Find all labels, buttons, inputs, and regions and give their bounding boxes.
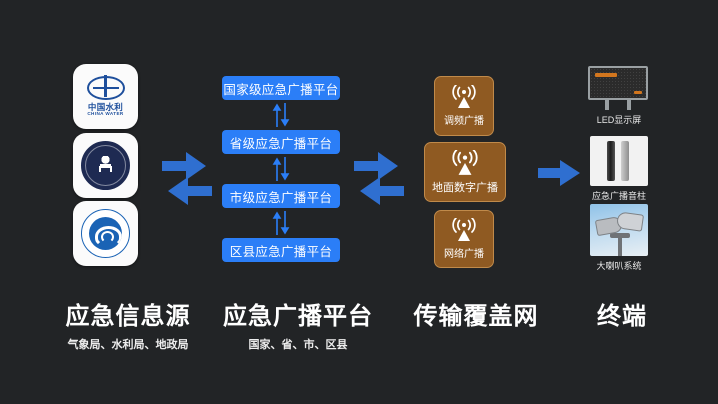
section-title-terminals: 终端 — [570, 296, 674, 331]
china-water-cn-text: 中国水利 — [88, 103, 123, 112]
led-display-icon — [588, 66, 650, 110]
platform-connector-1 — [272, 103, 290, 127]
broadcast-tower-icon — [451, 85, 477, 109]
flow-arrow-transmission-terminals — [536, 160, 582, 191]
section-title-platforms: 应急广播平台 — [212, 296, 384, 331]
platform-provincial-label: 省级应急广播平台 — [230, 133, 332, 152]
source-logo-meteorological-administration — [73, 201, 138, 266]
broadcast-tower-icon — [451, 218, 477, 242]
transmission-network-broadcast-label: 网络广播 — [444, 245, 484, 260]
transmission-fm-broadcast[interactable]: 调频广播 — [434, 76, 494, 136]
loudspeaker-horn-icon — [590, 204, 648, 256]
diagram-canvas: 中国水利 CHINA WATER 国家级应急广播平台 省级应急广播平台 — [0, 0, 718, 404]
platform-connector-3 — [272, 211, 290, 235]
vertical-double-arrow-icon — [272, 103, 290, 127]
platform-district-county-label: 区县应急广播平台 — [230, 241, 332, 260]
section-caption-platforms: 应急广播平台 国家、省、市、区县 — [212, 296, 384, 352]
platform-district-county[interactable]: 区县应急广播平台 — [222, 238, 340, 262]
section-subtitle-sources: 气象局、水利局、地政局 — [36, 336, 220, 352]
right-arrow-icon — [536, 160, 582, 186]
horn-pole — [618, 236, 622, 256]
platform-connector-2 — [272, 157, 290, 181]
platform-national-label: 国家级应急广播平台 — [223, 79, 338, 98]
china-water-emblem: 中国水利 CHINA WATER — [87, 76, 125, 117]
vertical-double-arrow-icon — [272, 211, 290, 235]
section-caption-terminals: 终端 — [570, 296, 674, 336]
speaker-column-icon — [590, 136, 648, 186]
cloud-swirl-icon — [89, 217, 122, 250]
flow-arrow-platforms-transmission — [352, 148, 406, 211]
section-caption-transmission: 传输覆盖网 — [400, 296, 552, 336]
platform-municipal[interactable]: 市级应急广播平台 — [222, 184, 340, 208]
led-text-bar-small — [634, 91, 642, 94]
horn-mount — [610, 233, 630, 238]
section-title-transmission: 传输覆盖网 — [400, 296, 552, 331]
platform-provincial[interactable]: 省级应急广播平台 — [222, 130, 340, 154]
terminal-loudspeaker-system-label: 大喇叭系统 — [588, 259, 650, 272]
section-title-sources: 应急信息源 — [36, 296, 220, 331]
broadcast-tower-icon — [451, 150, 479, 176]
transmission-terrestrial-digital-label: 地面数字广播 — [432, 179, 498, 195]
source-logo-earthquake-administration — [73, 133, 138, 198]
china-water-en-text: CHINA WATER — [87, 112, 123, 117]
seal-figure-icon — [97, 156, 114, 176]
terminal-led-display-label: LED显示屏 — [588, 113, 650, 126]
led-text-bar — [595, 73, 617, 77]
transmission-terrestrial-digital[interactable]: 地面数字广播 — [424, 142, 506, 202]
flow-arrow-sources-platforms — [160, 148, 214, 211]
platform-municipal-label: 市级应急广播平台 — [230, 187, 332, 206]
terminal-led-display[interactable]: LED显示屏 — [588, 66, 650, 126]
section-subtitle-platforms: 国家、省、市、区县 — [212, 336, 384, 352]
source-logo-china-water: 中国水利 CHINA WATER — [73, 64, 138, 129]
meteorological-seal-icon — [81, 209, 130, 258]
transmission-fm-broadcast-label: 调频广播 — [444, 112, 484, 127]
water-mark-icon — [87, 76, 125, 100]
vertical-double-arrow-icon — [272, 157, 290, 181]
bidirectional-arrow-icon — [352, 148, 406, 206]
transmission-network-broadcast[interactable]: 网络广播 — [434, 210, 494, 268]
terminal-speaker-column[interactable]: 应急广播音柱 — [588, 136, 650, 202]
bidirectional-arrow-icon — [160, 148, 214, 206]
terminal-speaker-column-label: 应急广播音柱 — [588, 189, 650, 202]
earthquake-seal-icon — [81, 141, 130, 190]
led-support-legs — [588, 100, 648, 110]
section-caption-sources: 应急信息源 气象局、水利局、地政局 — [36, 296, 220, 352]
terminal-loudspeaker-system[interactable]: 大喇叭系统 — [588, 204, 650, 272]
platform-national[interactable]: 国家级应急广播平台 — [222, 76, 340, 100]
led-panel — [588, 66, 648, 100]
